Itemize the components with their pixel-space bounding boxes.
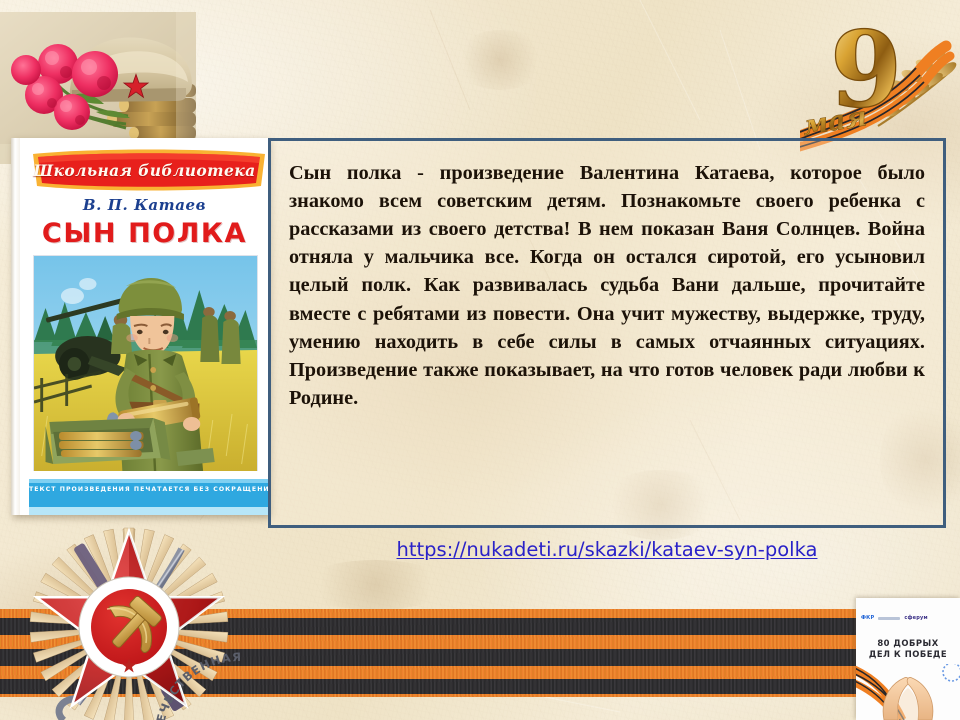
source-link[interactable]: https://nukadeti.ru/skazki/kataev-syn-po… bbox=[397, 538, 818, 561]
promo-headline: 80 ДОБРЫХ ДЕЛ К ПОБЕДЕ bbox=[856, 638, 960, 660]
banner-label: Школьная библиотека bbox=[29, 148, 260, 192]
book-footer-note: ТЕКСТ ПРОИЗВЕДЕНИЯ ПЕЧАТАЕТСЯ БЕЗ СОКРАЩ… bbox=[29, 486, 269, 493]
book-footer-band: ТЕКСТ ПРОИЗВЕДЕНИЯ ПЕЧАТАЕТСЯ БЕЗ СОКРАЩ… bbox=[29, 471, 269, 515]
fkr-logo: ФКР bbox=[861, 615, 874, 621]
book-author: В. П. Катаев bbox=[20, 196, 269, 214]
paper-blotch bbox=[300, 560, 450, 610]
description-textbox: Сын полка - произведение Валентина Катае… bbox=[268, 138, 946, 528]
logo-divider-bar bbox=[878, 617, 900, 620]
hands-forming-heart-illustration bbox=[856, 664, 960, 720]
book-cover-illustration bbox=[34, 256, 257, 474]
order-of-patriotic-war-medal: ОТЕЧЕСТВЕННАЯ ВОЙНА bbox=[18, 516, 240, 720]
sferum-logo: сферум bbox=[904, 615, 927, 621]
promo-headline-line1: 80 ДОБРЫХ bbox=[856, 638, 960, 649]
may9-month-label: мая bbox=[800, 101, 869, 142]
promo-card[interactable]: ФКР сферум 80 ДОБРЫХ ДЕЛ К ПОБЕДЕ bbox=[856, 598, 960, 720]
source-link-row: https://nukadeti.ru/skazki/kataev-syn-po… bbox=[268, 538, 946, 561]
paper-blotch bbox=[455, 30, 545, 90]
promo-headline-line2: ДЕЛ К ПОБЕДЕ bbox=[856, 649, 960, 660]
description-paragraph: Сын полка - произведение Валентина Катае… bbox=[271, 141, 943, 422]
slide-canvas: 9 мая Школьная библиотека В. П. Катаев С… bbox=[0, 0, 960, 720]
school-library-banner: Школьная библиотека bbox=[29, 148, 260, 192]
book-cover: Школьная библиотека В. П. Катаев СЫН ПОЛ… bbox=[11, 138, 269, 515]
promo-logos: ФКР сферум bbox=[856, 612, 960, 624]
may9-emblem: 9 мая bbox=[800, 8, 958, 156]
book-title: СЫН ПОЛКА bbox=[20, 218, 269, 249]
book-spine bbox=[11, 138, 20, 515]
